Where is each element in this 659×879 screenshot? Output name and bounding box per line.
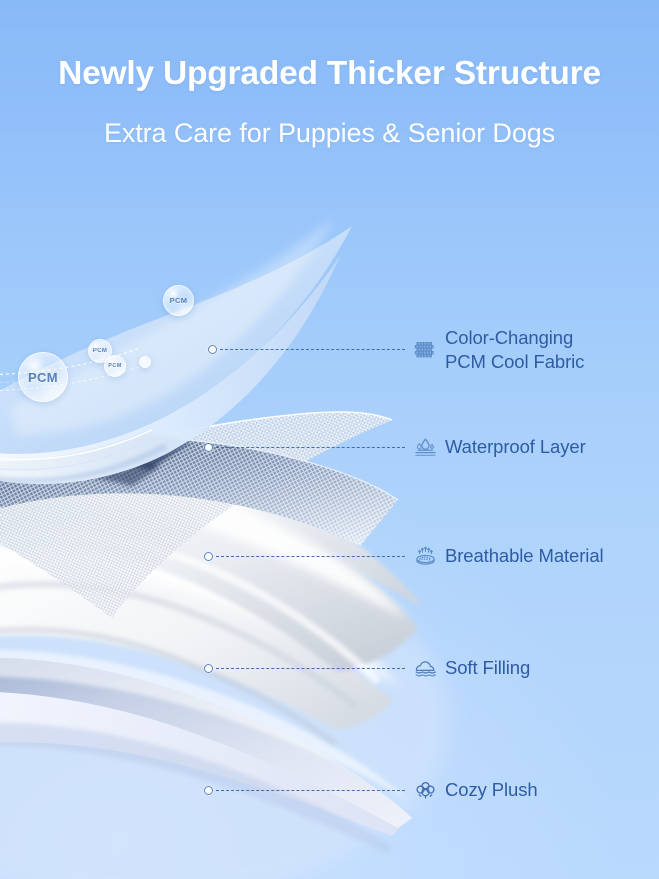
callout-leader-line [216, 668, 405, 669]
callout-anchor-dot [204, 552, 213, 561]
callout-anchor-dot [204, 443, 213, 452]
callout-label: Breathable Material [445, 544, 604, 568]
callout-soft-filling: Soft Filling [204, 655, 530, 681]
callout-label: Cozy Plush [445, 778, 538, 802]
callout-leader-line [220, 349, 405, 350]
callout-label: Color-Changing PCM Cool Fabric [445, 326, 584, 373]
callout-leader-line [216, 447, 405, 448]
cotton-boll-icon [412, 777, 438, 803]
airflow-mesh-icon [412, 543, 438, 569]
cloud-fill-icon [412, 655, 438, 681]
callout-waterproof-layer: Waterproof Layer [204, 434, 586, 460]
callout-leader-line [216, 790, 405, 791]
water-droplet-repel-icon [412, 434, 438, 460]
woven-fabric-icon [412, 337, 438, 363]
callout-cozy-plush: Cozy Plush [204, 777, 538, 803]
callout-color-changing-pcm-cool-fabric: Color-Changing PCM Cool Fabric [208, 326, 584, 373]
callout-anchor-dot [204, 786, 213, 795]
callout-anchor-dot [208, 345, 217, 354]
callout-leader-line [216, 556, 405, 557]
callout-label: Soft Filling [445, 656, 530, 680]
callout-anchor-dot [204, 664, 213, 673]
callout-breathable-material: Breathable Material [204, 543, 604, 569]
callout-list: Color-Changing PCM Cool Fabric Waterproo… [0, 0, 659, 879]
product-structure-infographic: PCM PCM PCM PCM Newly Upgraded Thicker S… [0, 0, 659, 879]
callout-label: Waterproof Layer [445, 435, 586, 459]
